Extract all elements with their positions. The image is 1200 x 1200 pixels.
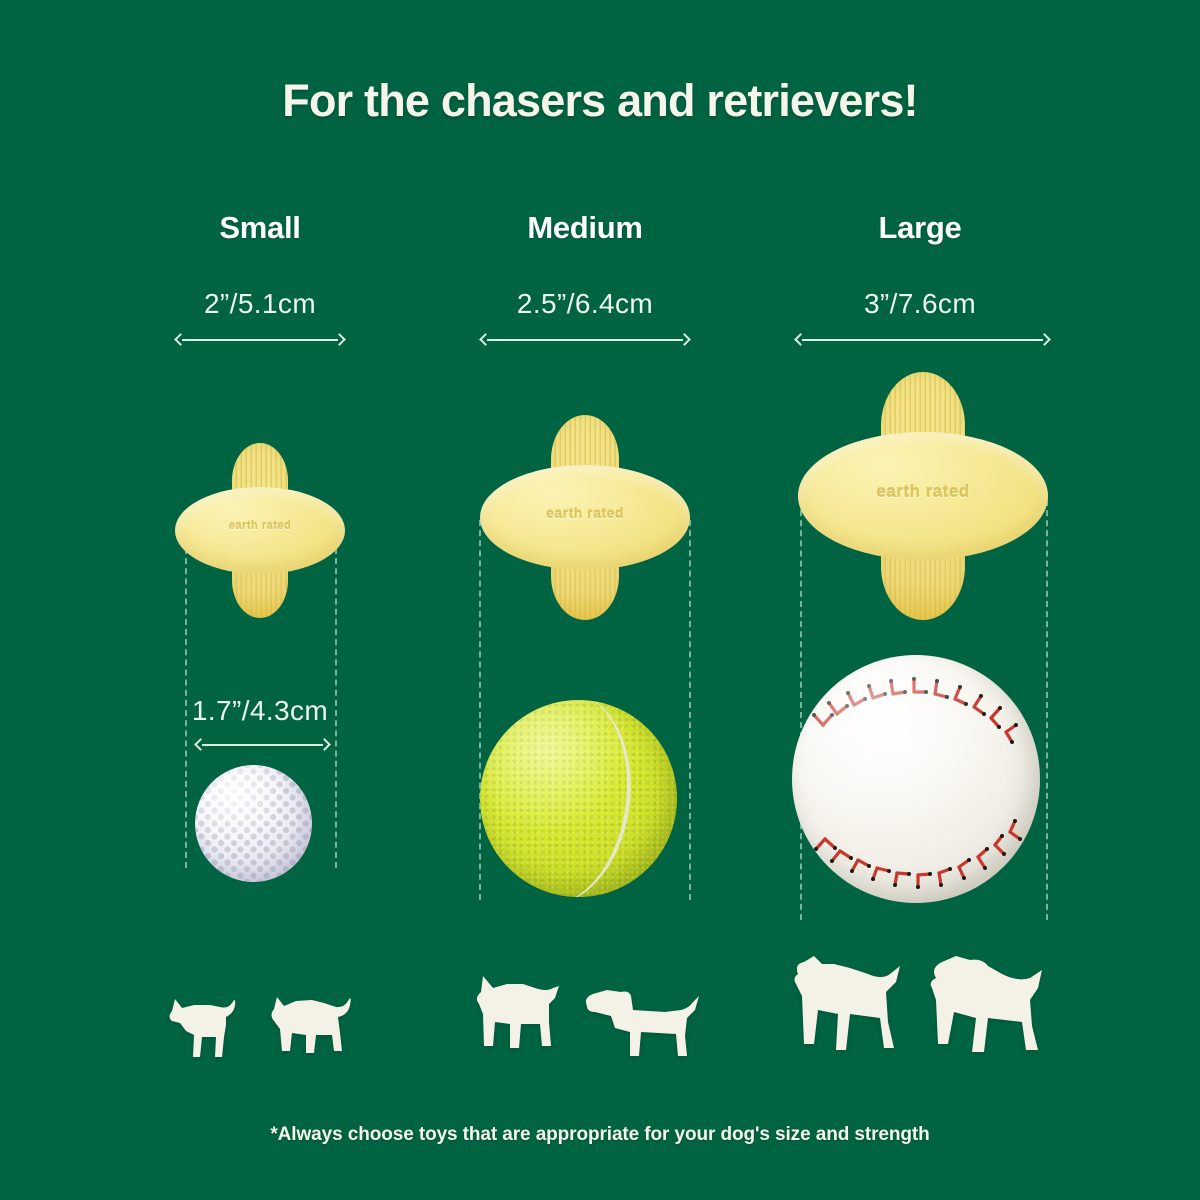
brand-emboss-large: earth rated xyxy=(798,482,1048,502)
size-column-small: Small 2”/5.1cm earth rated 1.7”/4.3cm xyxy=(90,0,430,1200)
size-label-medium: Medium xyxy=(415,210,755,246)
brand-emboss-medium: earth rated xyxy=(480,505,690,521)
dimension-arrow-small-ball xyxy=(195,738,330,752)
toy-dimension-medium: 2.5”/6.4cm xyxy=(415,288,755,320)
dimension-arrow-large-toy xyxy=(795,333,1050,347)
footnote-disclaimer: *Always choose toys that are appropriate… xyxy=(0,1124,1200,1146)
toy-lobe-horizontal-small: earth rated xyxy=(175,487,345,574)
size-column-large: Large 3”/7.6cm earth rated xyxy=(750,0,1090,1200)
baseball xyxy=(792,655,1040,903)
ball-dimension-small: 1.7”/4.3cm xyxy=(90,695,430,727)
size-label-small: Small xyxy=(90,210,430,246)
dimension-arrow-small-toy xyxy=(175,333,345,347)
toy-medium: earth rated xyxy=(480,415,690,620)
toy-dimension-small: 2”/5.1cm xyxy=(90,288,430,320)
dog-group-large xyxy=(750,950,1090,1070)
brand-emboss-small: earth rated xyxy=(175,520,345,532)
dog-silhouette-french-bulldog xyxy=(467,970,567,1068)
toy-dimension-large: 3”/7.6cm xyxy=(750,288,1090,320)
dog-silhouette-chihuahua xyxy=(162,985,250,1065)
dimension-arrow-medium-toy xyxy=(480,333,690,347)
toy-lobe-horizontal-large: earth rated xyxy=(798,432,1048,560)
golf-ball xyxy=(195,765,312,882)
toy-small: earth rated xyxy=(175,443,345,618)
size-column-medium: Medium 2.5”/6.4cm earth rated xyxy=(415,0,755,1200)
dog-silhouette-dachshund xyxy=(581,976,703,1068)
toy-lobe-horizontal-medium: earth rated xyxy=(480,465,690,570)
dog-group-small xyxy=(90,975,430,1065)
dog-silhouette-golden-retriever xyxy=(926,952,1050,1070)
dog-group-medium xyxy=(415,968,755,1068)
tennis-ball xyxy=(480,700,677,897)
size-label-large: Large xyxy=(750,210,1090,246)
dog-silhouette-terrier xyxy=(266,985,358,1065)
toy-large: earth rated xyxy=(798,372,1048,620)
dog-silhouette-boxer xyxy=(790,952,908,1070)
size-guide-poster: For the chasers and retrievers! Small 2”… xyxy=(0,0,1200,1200)
